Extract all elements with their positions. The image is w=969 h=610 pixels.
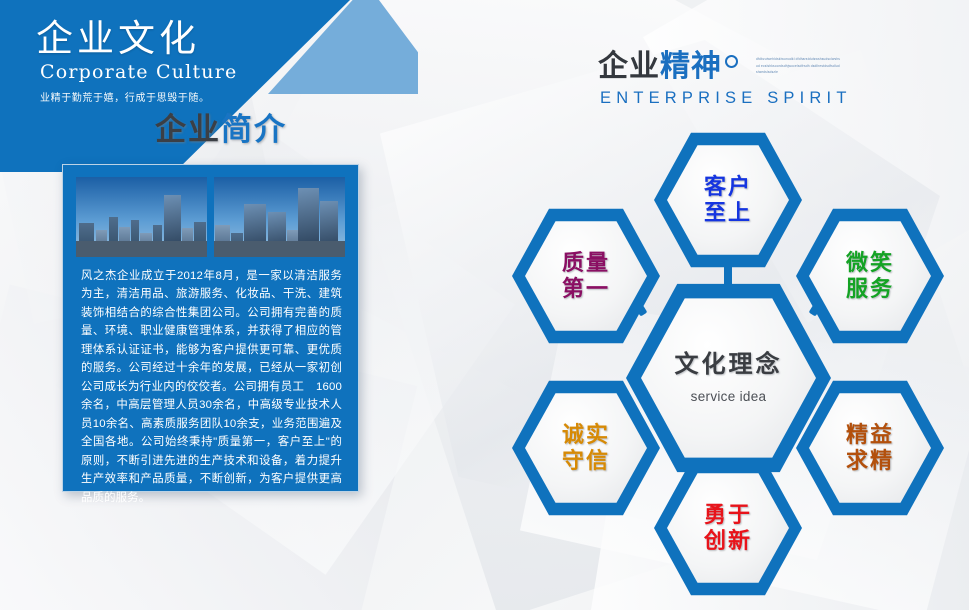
header-title-en: Corporate Culture <box>40 61 237 83</box>
hex-label-line1: 微笑 <box>846 250 894 276</box>
hex-label-line2: 创新 <box>704 528 752 554</box>
hex-label-line2: 服务 <box>846 276 894 302</box>
hex-label-line2: 守信 <box>562 448 610 474</box>
header-block: 企业文化 Corporate Culture 业精于勤荒于嬉，行成于思毁于随。 <box>36 18 237 104</box>
hex-label-line2: 至上 <box>704 200 752 226</box>
hexagon-excellence[interactable]: 精益 求精 <box>796 378 944 518</box>
intro-title-dark: 企业 <box>155 112 221 147</box>
hexagon-label: 精益 求精 <box>796 378 944 518</box>
header-title-cn: 企业文化 <box>36 18 237 59</box>
circle-dot-icon <box>725 55 738 68</box>
header-subtitle: 业精于勤荒于嬉，行成于思毁于随。 <box>40 89 237 104</box>
spirit-title-dark: 企业 <box>598 50 660 83</box>
intro-section-title: 企业简介 <box>155 114 287 145</box>
center-label-en: service idea <box>691 389 767 405</box>
hexagon-honesty-integrity[interactable]: 诚实 守信 <box>512 378 660 518</box>
spirit-header-block: 企业精神 ENTERPRISE SPIRIT dfdbzuiwehldsklwu… <box>598 52 852 108</box>
hex-label-line1: 客户 <box>704 174 752 200</box>
hex-label-line2: 第一 <box>562 276 610 302</box>
hexagon-cluster: 文化理念 service idea 客户 至上 质量 第一 微笑 <box>486 108 969 608</box>
hex-label-line1: 精益 <box>846 422 894 448</box>
center-label-cn: 文化理念 <box>675 351 783 379</box>
company-profile-text: 风之杰企业成立于2012年8月，是一家以清洁服务为主，清洁用品、旅游服务、化妆品… <box>63 257 358 507</box>
hexagon-label: 客户 至上 <box>654 130 802 270</box>
hex-label-line1: 质量 <box>562 250 610 276</box>
hexagon-brave-innovation[interactable]: 勇于 创新 <box>654 458 802 598</box>
hex-label-line2: 求精 <box>846 448 894 474</box>
hex-label-line1: 诚实 <box>562 422 610 448</box>
hexagon-quality-first[interactable]: 质量 第一 <box>512 206 660 346</box>
hexagon-smile-service[interactable]: 微笑 服务 <box>796 206 944 346</box>
hexagon-label: 质量 第一 <box>512 206 660 346</box>
company-profile-card: 风之杰企业成立于2012年8月，是一家以清洁服务为主，清洁用品、旅游服务、化妆品… <box>62 164 359 492</box>
decorative-micro-text: dfdbzuiwehldsklwunudkl dfdharstdulswshsu… <box>756 56 840 76</box>
spirit-title-en: ENTERPRISE SPIRIT <box>600 89 852 108</box>
profile-photo-row <box>63 165 358 257</box>
hexagon-label: 微笑 服务 <box>796 206 944 346</box>
hexagon-label: 诚实 守信 <box>512 378 660 518</box>
intro-title-blue: 简介 <box>221 112 287 147</box>
city-skyline-photo <box>76 177 207 257</box>
hexagon-label: 勇于 创新 <box>654 458 802 598</box>
hexagon-customer-first[interactable]: 客户 至上 <box>654 130 802 270</box>
hex-label-line1: 勇于 <box>704 502 752 528</box>
office-towers-photo <box>214 177 345 257</box>
spirit-title-blue: 精神 <box>660 50 722 83</box>
poster-canvas: 企业文化 Corporate Culture 业精于勤荒于嬉，行成于思毁于随。 … <box>0 0 969 610</box>
